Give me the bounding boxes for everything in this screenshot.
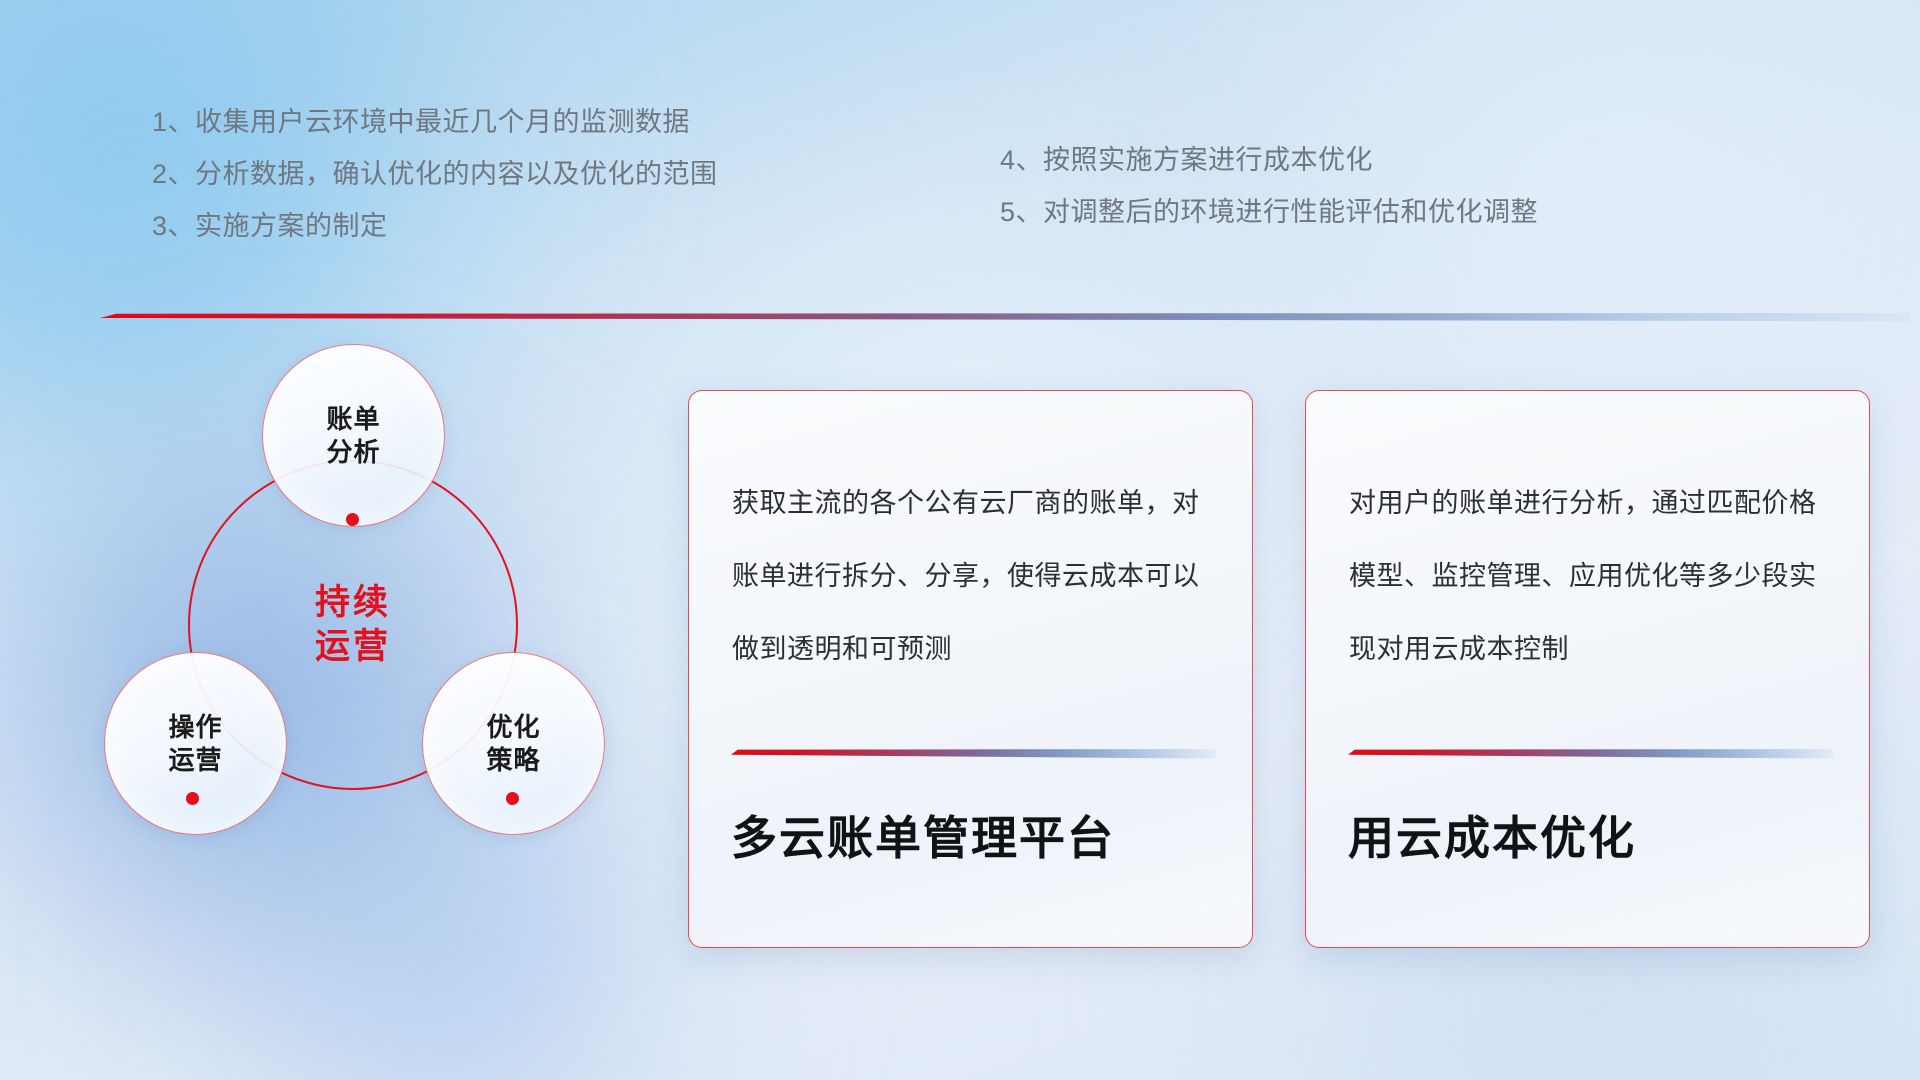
node-connector-dot-left bbox=[186, 792, 199, 805]
node-label-line2: 分析 bbox=[326, 436, 380, 469]
center-label-line1: 持续 bbox=[315, 581, 391, 625]
node-connector-dot-top bbox=[346, 513, 359, 526]
card-title: 多云账单管理平台 bbox=[731, 809, 1222, 867]
center-label-line2: 运营 bbox=[315, 625, 391, 669]
card-divider bbox=[1348, 749, 1833, 760]
card-divider-gradient-wedge bbox=[731, 749, 1216, 760]
diagram-node-optimization-strategy[interactable]: 优化 策略 bbox=[422, 652, 605, 835]
node-connector-dot-right bbox=[506, 792, 519, 805]
continuous-operation-diagram: 持续 运营 账单 分析 操作 运营 优化 策略 bbox=[92, 352, 652, 952]
node-label-line2: 策略 bbox=[486, 744, 540, 777]
node-label-line1: 操作 bbox=[168, 711, 222, 744]
node-label-line2: 运营 bbox=[168, 744, 222, 777]
steps-right-column: 4、按照实施方案进行成本优化 5、对调整后的环境进行性能评估和优化调整 bbox=[1000, 134, 1538, 238]
steps-left-column: 1、收集用户云环境中最近几个月的监测数据 2、分析数据，确认优化的内容以及优化的… bbox=[152, 96, 718, 252]
card-body-text: 获取主流的各个公有云厂商的账单，对账单进行拆分、分享，使得云成本可以做到透明和可… bbox=[732, 467, 1218, 686]
card-title: 用云成本优化 bbox=[1348, 809, 1839, 867]
card-divider-gradient-wedge bbox=[1348, 749, 1833, 760]
step-item-4: 4、按照实施方案进行成本优化 bbox=[1000, 134, 1538, 186]
node-label-line1: 优化 bbox=[486, 711, 540, 744]
feature-card-cost-optimization[interactable]: 对用户的账单进行分析，通过匹配价格模型、监控管理、应用优化等多少段实现对用云成本… bbox=[1305, 390, 1870, 948]
card-divider bbox=[731, 749, 1216, 760]
process-steps-list: 1、收集用户云环境中最近几个月的监测数据 2、分析数据，确认优化的内容以及优化的… bbox=[0, 96, 1920, 276]
step-item-3: 3、实施方案的制定 bbox=[152, 200, 718, 252]
step-item-5: 5、对调整后的环境进行性能评估和优化调整 bbox=[1000, 186, 1538, 238]
node-label-line1: 账单 bbox=[326, 403, 380, 436]
divider-gradient-wedge bbox=[100, 313, 1910, 322]
feature-card-multicloud-billing[interactable]: 获取主流的各个公有云厂商的账单，对账单进行拆分、分享，使得云成本可以做到透明和可… bbox=[688, 390, 1253, 948]
card-body-text: 对用户的账单进行分析，通过匹配价格模型、监控管理、应用优化等多少段实现对用云成本… bbox=[1349, 467, 1835, 686]
diagram-node-bill-analysis[interactable]: 账单 分析 bbox=[262, 344, 445, 527]
diagram-node-operations[interactable]: 操作 运营 bbox=[104, 652, 287, 835]
section-divider bbox=[100, 313, 1910, 322]
step-item-1: 1、收集用户云环境中最近几个月的监测数据 bbox=[152, 96, 718, 148]
step-item-2: 2、分析数据，确认优化的内容以及优化的范围 bbox=[152, 148, 718, 200]
